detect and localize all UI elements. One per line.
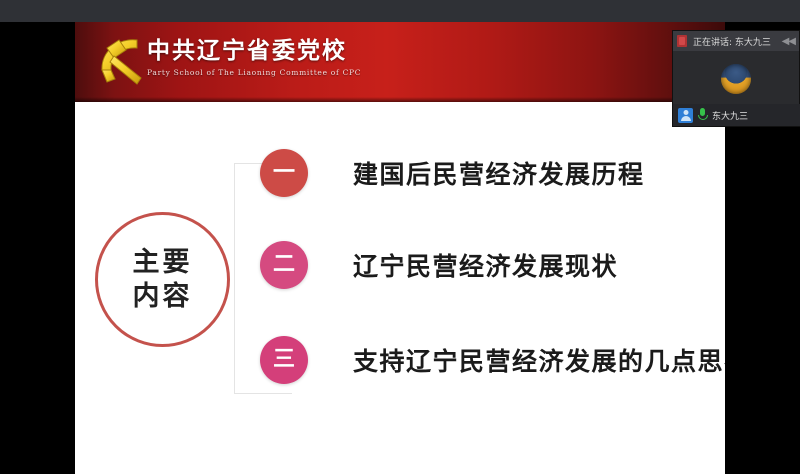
list-item: 三 支持辽宁民营经济发展的几点思考 [260,334,725,386]
item-number-label: 一 [260,149,308,197]
slide-body: 主要 内容 一 建国后民营经济发展历程 二 辽宁民营经济发展现状 [75,102,725,474]
item-number-label: 二 [260,241,308,289]
video-panel-header[interactable]: 正在讲话: 东大九三 ◀◀ [673,31,799,51]
banner-title-en: Party School of The Liaoning Committee o… [147,68,567,77]
item-label: 支持辽宁民营经济发展的几点思考 [353,342,725,378]
list-item: 二 辽宁民营经济发展现状 [260,239,618,291]
item-number-label: 三 [260,336,308,384]
video-panel-footer: 东大九三 [673,104,800,126]
video-overlay-panel[interactable]: 正在讲话: 东大九三 ◀◀ 东大九三 [672,30,800,127]
content-list: 一 建国后民营经济发展历程 二 辽宁民营经济发展现状 三 支持辽宁民营经济发展的… [75,102,725,474]
hammer-and-sickle-icon [95,34,153,90]
banner-text-block: 中共辽宁省委党校 Party School of The Liaoning Co… [147,37,567,77]
item-number-badge: 一 [260,149,308,197]
presentation-slide: 中共辽宁省委党校 Party School of The Liaoning Co… [75,22,725,474]
screen-root: 中共辽宁省委党校 Party School of The Liaoning Co… [0,0,800,474]
speaking-status-label: 正在讲话: 东大九三 [693,35,771,48]
participant-name-label: 东大九三 [712,109,748,122]
window-top-chrome [0,0,800,22]
slide-banner: 中共辽宁省委党校 Party School of The Liaoning Co… [75,22,725,102]
recording-icon [677,35,687,47]
chevron-double-left-icon[interactable]: ◀◀ [782,36,795,47]
video-stage[interactable] [673,51,799,106]
user-avatar-icon [721,64,751,94]
video-panel-notch [655,105,673,127]
list-item: 一 建国后民营经济发展历程 [260,147,645,199]
participant-icon[interactable] [678,108,693,123]
item-number-badge: 三 [260,336,308,384]
item-label: 辽宁民营经济发展现状 [353,247,618,283]
item-number-badge: 二 [260,241,308,289]
microphone-on-icon[interactable] [698,108,706,122]
banner-title-cn: 中共辽宁省委党校 [147,37,567,65]
item-label: 建国后民营经济发展历程 [353,155,645,191]
